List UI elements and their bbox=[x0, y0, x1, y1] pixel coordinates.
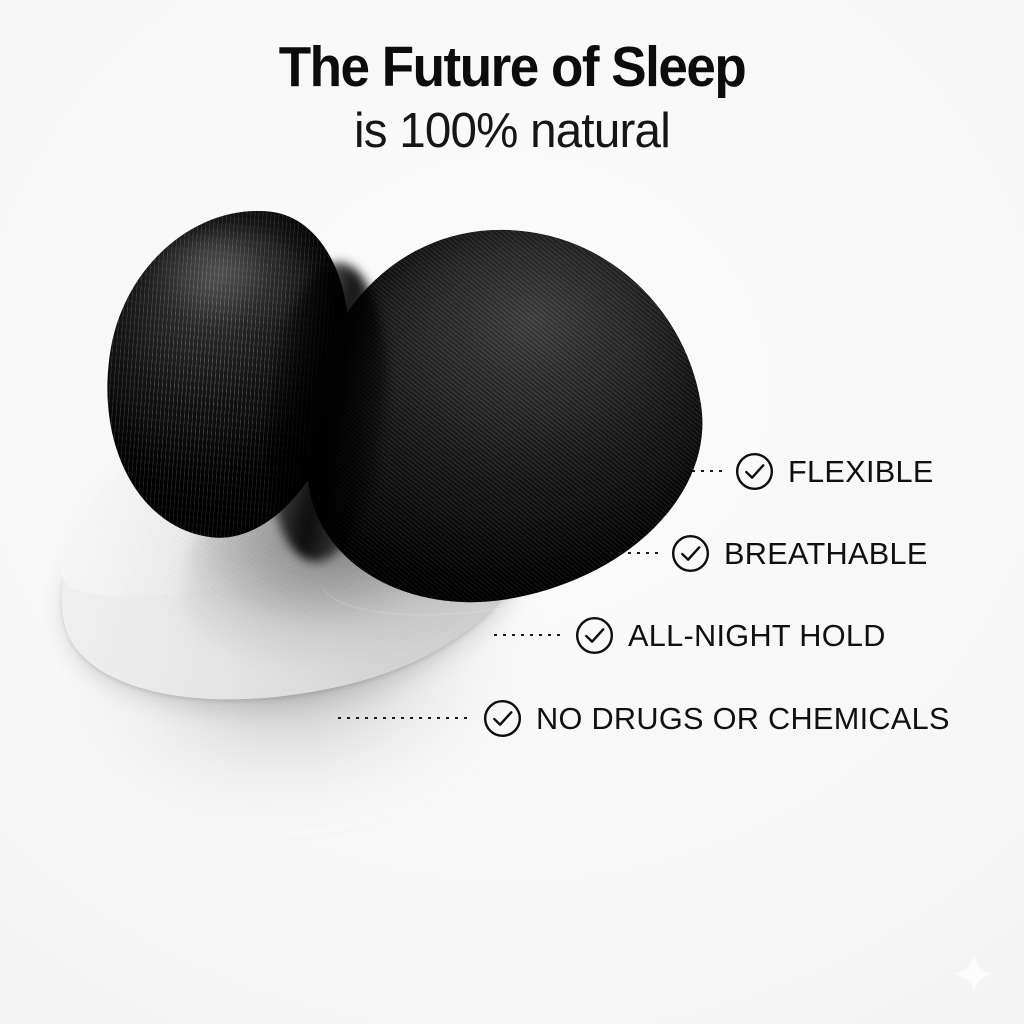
headline-block: The Future of Sleep is 100% natural bbox=[0, 38, 1024, 158]
check-circle-icon bbox=[482, 698, 523, 739]
feature-item-no-drugs-or-chemicals: NO DRUGS OR CHEMICALS bbox=[338, 695, 954, 741]
feature-label: ALL-NIGHT HOLD bbox=[628, 620, 886, 651]
feature-label: BREATHABLE bbox=[724, 538, 928, 569]
feature-label: NO DRUGS OR CHEMICALS bbox=[536, 703, 950, 734]
sparkle-icon bbox=[952, 952, 996, 996]
page-subtitle: is 100% natural bbox=[15, 106, 1008, 157]
promo-image-canvas: The Future of Sleep is 100% natural FLEX… bbox=[0, 0, 1024, 1024]
leader-line bbox=[338, 717, 470, 719]
check-circle-icon bbox=[670, 533, 711, 574]
leader-line bbox=[610, 552, 658, 554]
page-title: The Future of Sleep bbox=[36, 38, 988, 96]
feature-label: FLEXIBLE bbox=[788, 456, 934, 487]
leader-line bbox=[494, 634, 562, 636]
feature-item-breathable: BREATHABLE bbox=[610, 530, 930, 576]
check-circle-icon bbox=[734, 451, 775, 492]
leader-line bbox=[692, 470, 722, 472]
feature-item-flexible: FLEXIBLE bbox=[692, 448, 935, 494]
product-image bbox=[0, 170, 800, 770]
check-circle-icon bbox=[574, 615, 615, 656]
feature-item-all-night-hold: ALL-NIGHT HOLD bbox=[494, 612, 888, 658]
